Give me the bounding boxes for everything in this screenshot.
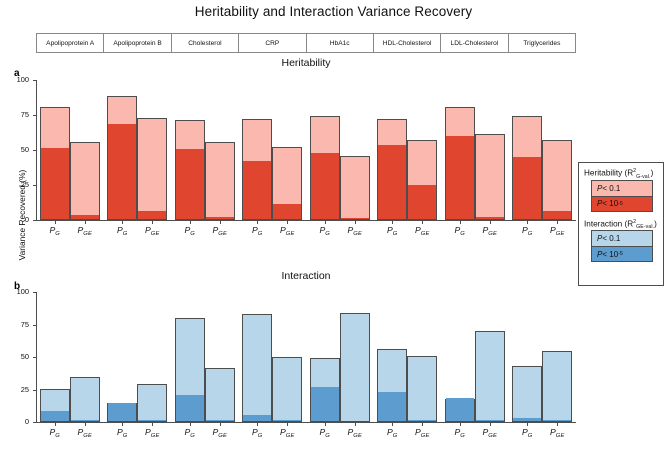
bar-segment-dark	[513, 157, 541, 219]
x-tick-label-b-5: PGE	[202, 428, 238, 438]
x-tick-label-a-15: PGE	[539, 226, 575, 236]
panel-heritability: 0255075100PGPGEPGPGEPGPGEPGPGEPGPGEPGPGE…	[36, 80, 576, 252]
bar-segment-light	[513, 367, 541, 421]
x-tick-b-7	[287, 423, 288, 426]
bar-a-5-1[interactable]	[407, 140, 437, 221]
bar-a-3-0[interactable]	[242, 119, 272, 221]
x-tick-a-12	[460, 221, 461, 224]
bar-segment-dark	[138, 420, 166, 421]
x-tick-b-15	[557, 423, 558, 426]
x-tick-label-a-9: PGE	[337, 226, 373, 236]
legend-key-heritability-p01[interactable]: P < 0.1	[592, 181, 652, 196]
y-tick-a-25	[33, 185, 36, 186]
x-tick-b-13	[490, 423, 491, 426]
legend-key-interaction-p01[interactable]: P < 0.1	[592, 231, 652, 246]
y-tick-a-0	[33, 220, 36, 221]
legend-p-value: < 0.1	[602, 184, 620, 193]
bar-segment-dark	[108, 403, 136, 421]
y-tick-label-a-50: 50	[7, 146, 29, 153]
bar-segment-light	[138, 119, 166, 219]
x-tick-label-a-5: PGE	[202, 226, 238, 236]
panel-heading-a: Heritability	[36, 57, 576, 69]
bar-b-3-0[interactable]	[242, 314, 272, 422]
figure-root: Heritability and Interaction Variance Re…	[0, 0, 667, 457]
bar-b-6-1[interactable]	[475, 331, 505, 422]
x-tick-label-b-9: PGE	[337, 428, 373, 438]
legend-title-interaction: Interaction (R2GE-val.)	[584, 219, 659, 229]
legend: Heritability (R2G-val.) P < 0.1 P < 10-5…	[578, 162, 664, 286]
x-tick-a-1	[85, 221, 86, 224]
bar-a-0-0[interactable]	[40, 107, 70, 220]
bar-segment-dark	[446, 136, 474, 219]
bar-b-4-1[interactable]	[340, 313, 370, 422]
y-tick-b-50	[33, 357, 36, 358]
x-tick-b-2	[122, 423, 123, 426]
legend-interaction-sub: GE-val.	[636, 224, 654, 230]
x-tick-b-14	[527, 423, 528, 426]
legend-interaction-text: Interaction (R	[584, 219, 633, 228]
facet-label-5: HDL-Cholesterol	[374, 34, 441, 52]
bar-segment-dark	[476, 420, 504, 421]
bar-segment-light	[476, 135, 504, 219]
x-tick-label-b-11: PGE	[404, 428, 440, 438]
bar-segment-dark	[311, 153, 339, 219]
bar-b-6-0[interactable]	[445, 399, 475, 422]
x-tick-label-a-3: PGE	[134, 226, 170, 236]
bar-a-4-1[interactable]	[340, 156, 370, 220]
y-tick-label-a-0: 0	[7, 216, 29, 223]
bar-segment-dark	[138, 211, 166, 219]
bar-segment-dark	[71, 215, 99, 219]
bar-segment-dark	[176, 149, 204, 219]
bar-a-1-0[interactable]	[107, 96, 137, 220]
x-tick-b-9	[355, 423, 356, 426]
bar-segment-dark	[408, 420, 436, 421]
bar-segment-dark	[273, 420, 301, 421]
bar-segment-dark	[176, 395, 204, 421]
x-tick-a-0	[55, 221, 56, 224]
facet-label-3: CRP	[239, 34, 306, 52]
y-tick-label-b-0: 0	[7, 418, 29, 425]
bar-segment-dark	[41, 411, 69, 421]
bar-b-0-0[interactable]	[40, 389, 70, 422]
bar-segment-dark	[446, 398, 474, 421]
facet-label-2: Cholesterol	[172, 34, 239, 52]
bar-b-3-1[interactable]	[272, 357, 302, 422]
x-tick-a-10	[392, 221, 393, 224]
bar-b-2-1[interactable]	[205, 368, 235, 422]
bar-a-4-0[interactable]	[310, 116, 340, 220]
bar-a-6-1[interactable]	[475, 134, 505, 220]
legend-key-interaction-p1e5[interactable]: P < 10-5	[592, 246, 652, 261]
bar-segment-light	[543, 352, 571, 422]
bar-segment-dark	[243, 161, 271, 219]
bar-a-2-0[interactable]	[175, 120, 205, 220]
bar-b-4-0[interactable]	[310, 358, 340, 422]
bar-segment-dark	[476, 217, 504, 219]
x-tick-b-4	[190, 423, 191, 426]
bar-segment-dark	[408, 185, 436, 219]
bar-a-7-0[interactable]	[512, 116, 542, 220]
x-axis-line-a	[36, 220, 576, 221]
legend-heritability-sub: G-val.	[636, 174, 650, 180]
bar-segment-light	[543, 141, 571, 219]
bar-a-1-1[interactable]	[137, 118, 167, 220]
legend-title-heritability: Heritability (R2G-val.)	[584, 168, 659, 178]
x-tick-b-1	[85, 423, 86, 426]
legend-p-value: < 10	[602, 250, 618, 259]
facet-label-6: LDL-Cholesterol	[441, 34, 508, 52]
legend-p-exponent: -5	[618, 251, 623, 257]
y-axis-line-b	[36, 292, 37, 423]
x-tick-b-12	[460, 423, 461, 426]
panel-interaction: 0255075100PGPGEPGPGEPGPGEPGPGEPGPGEPGPGE…	[36, 292, 576, 457]
bar-segment-light	[71, 378, 99, 422]
y-axis-line-a	[36, 80, 37, 221]
bar-a-5-0[interactable]	[377, 119, 407, 221]
bar-segment-light	[273, 358, 301, 421]
x-tick-a-5	[220, 221, 221, 224]
y-tick-label-b-50: 50	[7, 353, 29, 360]
bar-segment-light	[408, 357, 436, 421]
x-tick-a-7	[287, 221, 288, 224]
bar-segment-light	[243, 315, 271, 421]
bar-segment-light	[71, 143, 99, 219]
bar-b-7-1[interactable]	[542, 351, 572, 423]
x-tick-label-a-1: PGE	[67, 226, 103, 236]
bar-segment-light	[476, 332, 504, 421]
x-tick-a-4	[190, 221, 191, 224]
y-tick-label-a-75: 75	[7, 111, 29, 118]
y-tick-label-b-25: 25	[7, 386, 29, 393]
bar-segment-dark	[513, 418, 541, 421]
y-tick-a-50	[33, 150, 36, 151]
bar-segment-dark	[543, 420, 571, 421]
bar-segment-dark	[206, 420, 234, 421]
x-tick-b-6	[257, 423, 258, 426]
x-tick-a-15	[557, 221, 558, 224]
bar-segment-dark	[41, 148, 69, 219]
bar-b-5-1[interactable]	[407, 356, 437, 422]
bar-segment-dark	[71, 420, 99, 421]
bar-segment-dark	[206, 217, 234, 219]
x-tick-label-b-15: PGE	[539, 428, 575, 438]
x-tick-b-10	[392, 423, 393, 426]
y-tick-label-b-75: 75	[7, 321, 29, 328]
bar-segment-dark	[378, 392, 406, 421]
bar-b-5-0[interactable]	[377, 349, 407, 422]
bar-a-7-1[interactable]	[542, 140, 572, 220]
x-tick-b-3	[152, 423, 153, 426]
bar-b-2-0[interactable]	[175, 318, 205, 422]
bar-a-2-1[interactable]	[205, 142, 235, 220]
x-tick-b-8	[325, 423, 326, 426]
bar-b-7-0[interactable]	[512, 366, 542, 422]
x-tick-label-a-11: PGE	[404, 226, 440, 236]
y-tick-a-75	[33, 115, 36, 116]
x-tick-a-9	[355, 221, 356, 224]
y-tick-label-a-100: 100	[7, 76, 29, 83]
x-tick-a-8	[325, 221, 326, 224]
x-tick-a-2	[122, 221, 123, 224]
x-tick-a-13	[490, 221, 491, 224]
bar-segment-dark	[543, 211, 571, 219]
x-tick-label-b-3: PGE	[134, 428, 170, 438]
x-tick-a-11	[422, 221, 423, 224]
y-tick-b-0	[33, 422, 36, 423]
bar-segment-light	[206, 369, 234, 421]
y-tick-a-100	[33, 80, 36, 81]
legend-p-value: < 10	[602, 199, 618, 208]
bar-segment-light	[138, 385, 166, 421]
legend-heritability-text: Heritability (R	[584, 169, 633, 178]
x-tick-b-5	[220, 423, 221, 426]
x-tick-a-6	[257, 221, 258, 224]
x-tick-b-11	[422, 423, 423, 426]
y-tick-b-25	[33, 390, 36, 391]
y-tick-label-b-100: 100	[7, 288, 29, 295]
bar-segment-dark	[108, 124, 136, 219]
x-tick-label-b-7: PGE	[269, 428, 305, 438]
facet-label-1: Apolipoprotein B	[104, 34, 171, 52]
bar-segment-light	[206, 143, 234, 219]
bar-a-3-1[interactable]	[272, 147, 302, 220]
legend-key-heritability-p1e5[interactable]: P < 10-5	[592, 196, 652, 211]
y-tick-b-75	[33, 325, 36, 326]
legend-key-interaction[interactable]: P < 0.1 P < 10-5	[591, 230, 653, 262]
x-axis-line-b	[36, 422, 576, 423]
bar-b-1-1[interactable]	[137, 384, 167, 422]
x-tick-b-0	[55, 423, 56, 426]
legend-p-value: < 0.1	[602, 234, 620, 243]
x-tick-label-b-13: PGE	[472, 428, 508, 438]
x-tick-label-a-13: PGE	[472, 226, 508, 236]
bar-segment-light	[341, 314, 369, 421]
legend-p-exponent: -5	[618, 201, 623, 207]
bar-segment-dark	[273, 204, 301, 219]
bar-segment-light	[341, 157, 369, 219]
bar-segment-dark	[378, 145, 406, 219]
bar-segment-dark	[341, 218, 369, 219]
y-tick-label-a-25: 25	[7, 181, 29, 188]
bar-b-0-1[interactable]	[70, 377, 100, 423]
facet-label-4: HbA1c	[307, 34, 374, 52]
x-tick-a-14	[527, 221, 528, 224]
bar-b-1-0[interactable]	[107, 403, 137, 423]
x-tick-label-b-1: PGE	[67, 428, 103, 438]
bar-a-0-1[interactable]	[70, 142, 100, 220]
figure-title: Heritability and Interaction Variance Re…	[0, 4, 667, 19]
x-tick-label-a-7: PGE	[269, 226, 305, 236]
bar-a-6-0[interactable]	[445, 107, 475, 220]
facet-label-0: Apolipoprotein A	[37, 34, 104, 52]
x-tick-a-3	[152, 221, 153, 224]
legend-key-heritability[interactable]: P < 0.1 P < 10-5	[591, 180, 653, 212]
y-tick-b-100	[33, 292, 36, 293]
facet-label-7: Triglycerides	[509, 34, 575, 52]
panel-heading-b: Interaction	[36, 270, 576, 282]
bar-segment-dark	[311, 387, 339, 421]
legend-interaction-close: )	[654, 219, 657, 228]
facet-strip: Apolipoprotein AApolipoprotein BCholeste…	[36, 33, 576, 53]
bar-segment-dark	[243, 415, 271, 421]
